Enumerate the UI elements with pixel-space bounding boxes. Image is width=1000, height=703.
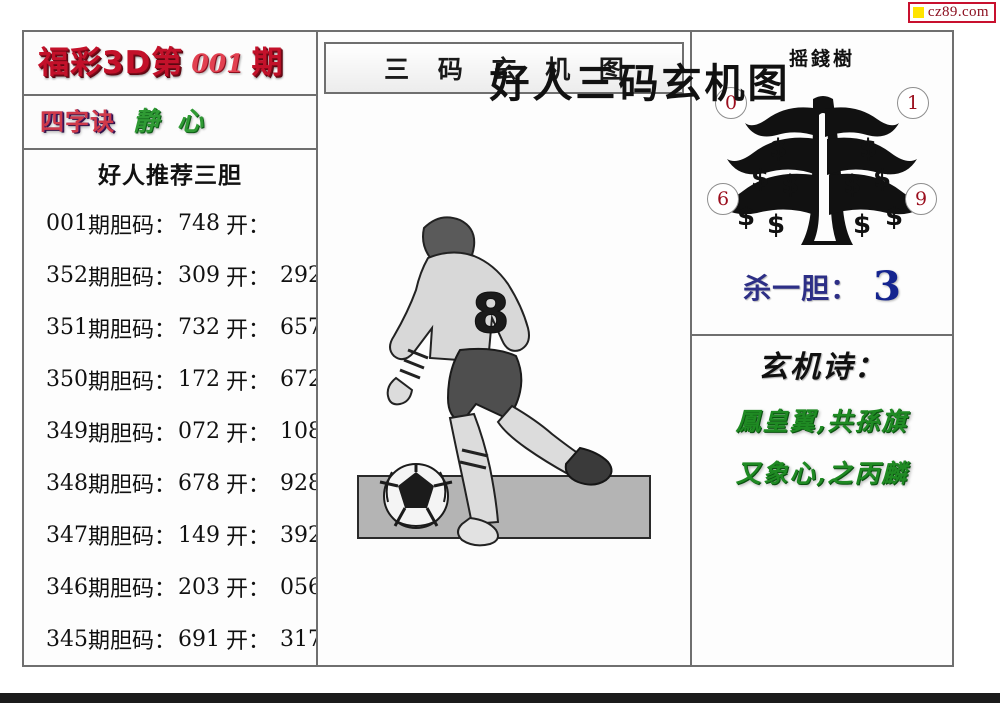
poem-title: 玄机诗： xyxy=(758,342,886,386)
row-code: 748 xyxy=(178,211,220,236)
tree-digit-6: 6 xyxy=(707,183,739,215)
row-code-label: 期胆码： xyxy=(88,208,176,240)
row-issue: 347 xyxy=(46,523,88,548)
svg-text:$: $ xyxy=(885,202,903,232)
four-char-phrase-banner: 四字诀 静 心 xyxy=(24,96,316,148)
row-issue: 351 xyxy=(46,315,88,340)
row-code: 309 xyxy=(178,263,220,288)
row-open-label: 开： xyxy=(226,571,270,603)
row-open-label: 开： xyxy=(226,416,270,448)
row-open-label: 开： xyxy=(226,364,270,396)
svg-text:$: $ xyxy=(843,170,861,200)
recommendation-list: 001 期胆码： 748 开： 352 期胆码： 309 开： 292 351 … xyxy=(24,196,316,665)
illustration-area: 8 xyxy=(318,94,690,665)
row-code-label: 期胆码： xyxy=(88,416,176,448)
svg-text:$: $ xyxy=(751,164,769,194)
row-open-label: 开： xyxy=(226,519,270,551)
list-item: 350 期胆码： 172 开： 672 xyxy=(24,354,316,406)
poem-panel: 玄机诗： 鳳皇翼,共孫旗 又象心,之丙麟 xyxy=(692,336,952,665)
watermark-badge-icon xyxy=(913,7,924,18)
row-code-label: 期胆码： xyxy=(88,519,176,551)
poem-line-1: 鳳皇翼,共孫旗 xyxy=(736,402,909,438)
row-code-label: 期胆码： xyxy=(88,260,176,292)
svg-text:$: $ xyxy=(859,134,877,164)
poster-frame: 福彩3D第 001 期 四字诀 静 心 好人推荐三胆 001 期胆码： 748 … xyxy=(22,30,954,667)
row-open-label: 开： xyxy=(226,312,270,344)
page-title: 好人三码玄机图 xyxy=(490,51,791,109)
svg-text:$: $ xyxy=(737,202,755,232)
row-code-label: 期胆码： xyxy=(88,467,176,499)
row-code: 072 xyxy=(178,419,220,444)
row-code: 732 xyxy=(178,315,220,340)
issue-banner: 福彩3D第 001 期 xyxy=(24,32,316,94)
list-item: 345 期胆码： 691 开： 317 xyxy=(24,613,316,665)
row-code-label: 期胆码： xyxy=(88,623,176,655)
svg-text:$: $ xyxy=(853,210,871,240)
row-code: 149 xyxy=(178,523,220,548)
svg-text:$: $ xyxy=(767,210,785,240)
poem-line-2: 又象心,之丙麟 xyxy=(736,454,909,490)
row-code: 691 xyxy=(178,627,220,652)
right-column: 摇錢樹 $ xyxy=(692,32,952,665)
list-item: 349 期胆码： 072 开： 108 xyxy=(24,406,316,458)
row-open-label: 开： xyxy=(226,467,270,499)
row-issue: 001 xyxy=(46,211,88,236)
svg-text:$: $ xyxy=(781,170,799,200)
list-item: 347 期胆码： 149 开： 392 xyxy=(24,509,316,561)
list-item: 352 期胆码： 309 开： 292 xyxy=(24,250,316,302)
four-char-label: 四字诀 xyxy=(40,110,115,134)
list-item: 001 期胆码： 748 开： xyxy=(24,198,316,250)
watermark-site: cz89.com xyxy=(928,5,989,20)
watermark: cz89.com xyxy=(908,2,996,23)
issue-suffix: 期 xyxy=(252,48,284,79)
row-open-label: 开： xyxy=(226,623,270,655)
bottom-strip xyxy=(0,693,1000,703)
row-issue: 349 xyxy=(46,419,88,444)
row-issue: 346 xyxy=(46,575,88,600)
list-item: 348 期胆码： 678 开： 928 xyxy=(24,457,316,509)
row-issue: 345 xyxy=(46,627,88,652)
phrase-char-2: 心 xyxy=(177,109,203,135)
svg-text:8: 8 xyxy=(472,282,510,345)
row-code: 172 xyxy=(178,367,220,392)
svg-text:$: $ xyxy=(873,164,891,194)
row-code-label: 期胆码： xyxy=(88,364,176,396)
row-code: 678 xyxy=(178,471,220,496)
kill-one-value: 3 xyxy=(873,267,901,307)
row-issue: 348 xyxy=(46,471,88,496)
phrase-char-1: 静 xyxy=(133,109,159,135)
row-open-label: 开： xyxy=(226,208,270,240)
row-code-label: 期胆码： xyxy=(88,571,176,603)
tree-digit-9: 9 xyxy=(905,183,937,215)
row-issue: 352 xyxy=(46,263,88,288)
row-open-label: 开： xyxy=(226,260,270,292)
lottery-name: 福彩3D第 xyxy=(38,48,183,79)
list-item: 351 期胆码： 732 开： 657 xyxy=(24,302,316,354)
list-item: 346 期胆码： 203 开： 056 xyxy=(24,561,316,613)
row-code: 203 xyxy=(178,575,220,600)
row-issue: 350 xyxy=(46,367,88,392)
svg-text:$: $ xyxy=(769,134,787,164)
page-title-wrap: 好人三码玄机图 xyxy=(330,50,950,110)
left-column: 福彩3D第 001 期 四字诀 静 心 好人推荐三胆 001 期胆码： 748 … xyxy=(24,32,316,665)
issue-number: 001 xyxy=(191,49,243,78)
center-column: 三 码 玄 机 图 8 xyxy=(318,32,690,665)
recommendation-title: 好人推荐三胆 xyxy=(24,150,316,196)
soccer-player-icon: 8 xyxy=(354,200,654,560)
kill-one-label: 杀一胆： xyxy=(743,267,859,307)
kill-one-row: 杀一胆： 3 xyxy=(743,267,901,307)
row-code-label: 期胆码： xyxy=(88,312,176,344)
